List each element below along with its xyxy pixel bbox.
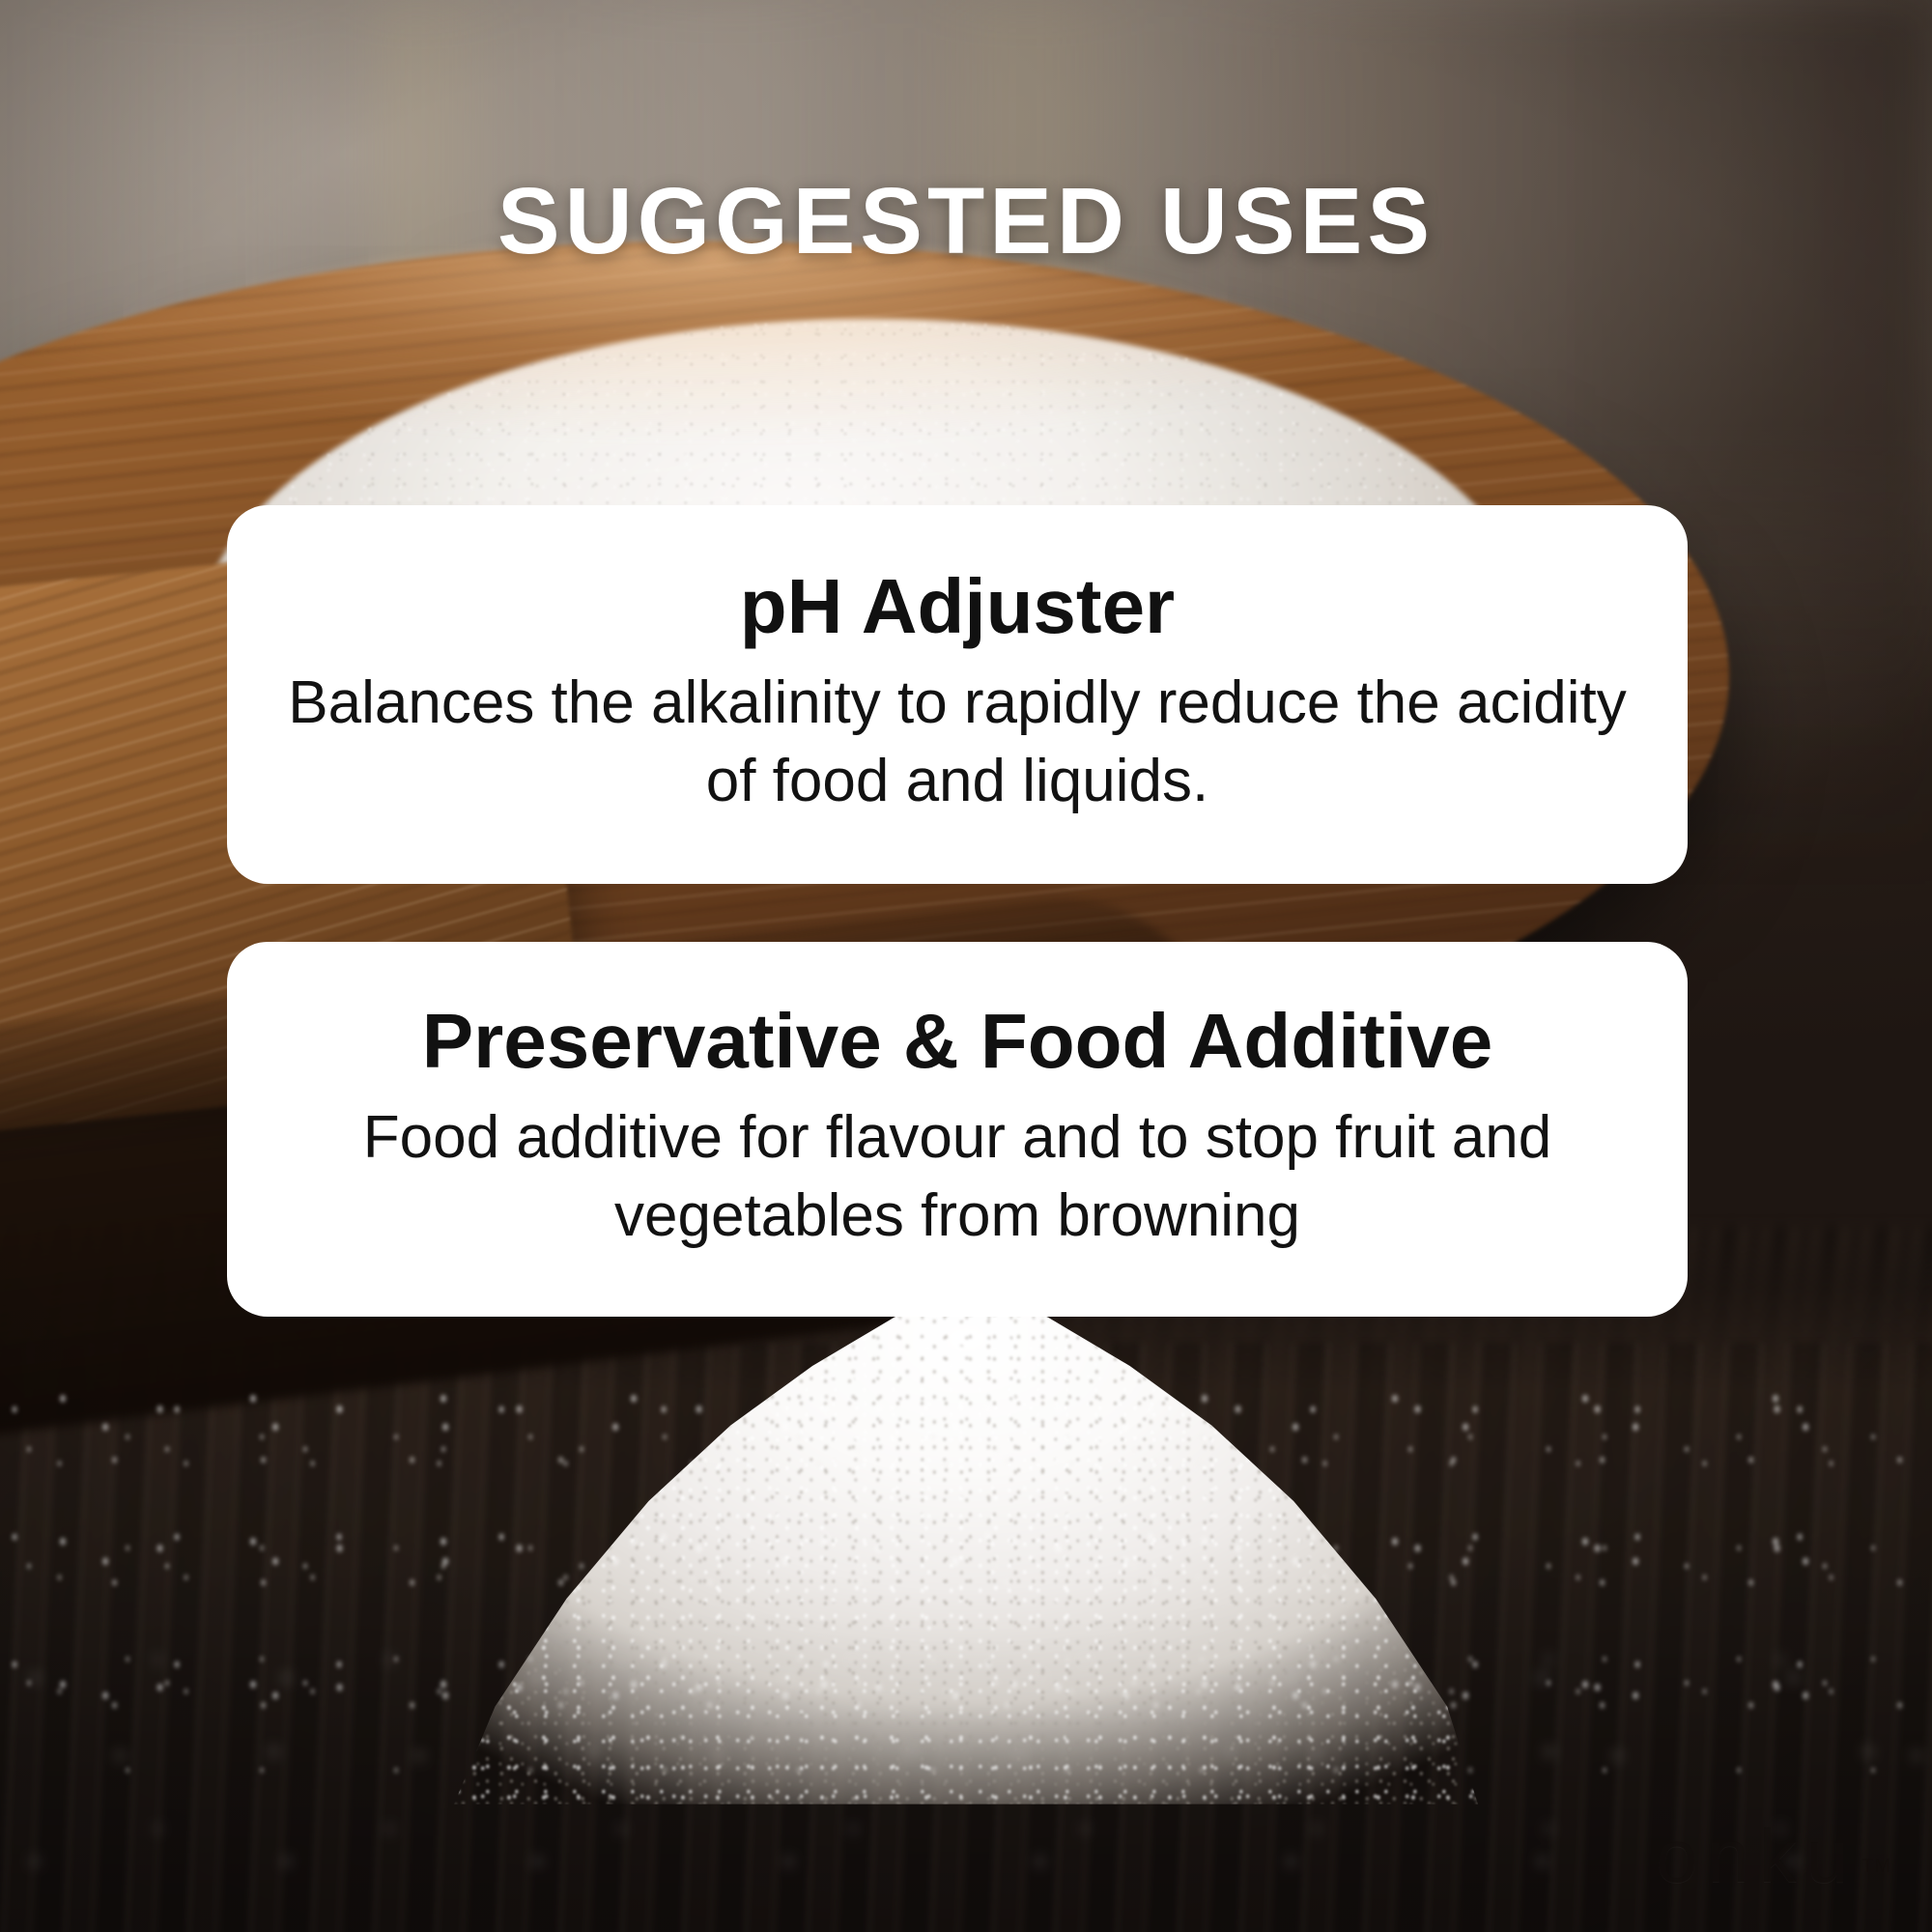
- page-title: SUGGESTED USES: [0, 172, 1932, 270]
- card-title: Preservative & Food Additive: [422, 999, 1492, 1084]
- suggested-use-card-ph-adjuster: pH Adjuster Balances the alkalinity to r…: [227, 505, 1688, 884]
- poster-canvas: SUGGESTED USES pH Adjuster Balances the …: [0, 0, 1932, 1932]
- suggested-use-card-preservative-food-additive: Preservative & Food Additive Food additi…: [227, 942, 1688, 1317]
- card-title: pH Adjuster: [740, 564, 1175, 649]
- card-description: Food additive for flavour and to stop fr…: [283, 1099, 1632, 1255]
- card-description: Balances the alkalinity to rapidly reduc…: [283, 665, 1632, 820]
